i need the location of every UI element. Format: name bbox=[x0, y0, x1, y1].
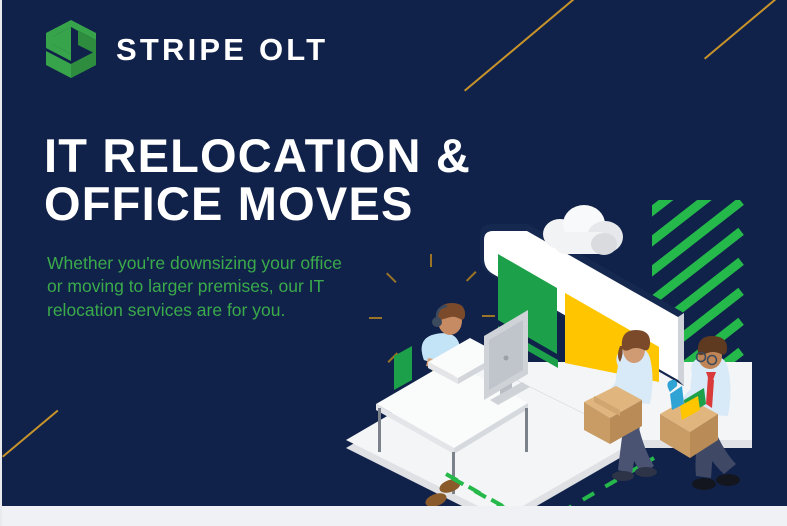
hero-subcopy: Whether you're downsizing your office or… bbox=[47, 252, 357, 322]
office-chair bbox=[394, 346, 412, 390]
desktop-monitor bbox=[484, 310, 530, 405]
bottom-strip bbox=[2, 506, 787, 526]
isometric-office-relocation-illustration bbox=[332, 190, 787, 526]
cloud-icon bbox=[543, 205, 623, 255]
illustration-svg bbox=[332, 190, 787, 526]
stripe-olt-hexagon-s-logo-icon bbox=[40, 18, 102, 80]
headline-line-1: IT RELOCATION & bbox=[44, 129, 471, 182]
hero-banner: STRIPE OLT IT RELOCATION & OFFICE MOVES … bbox=[0, 0, 787, 526]
brand-logo[interactable]: STRIPE OLT bbox=[40, 18, 328, 80]
brand-name: STRIPE OLT bbox=[116, 34, 328, 65]
